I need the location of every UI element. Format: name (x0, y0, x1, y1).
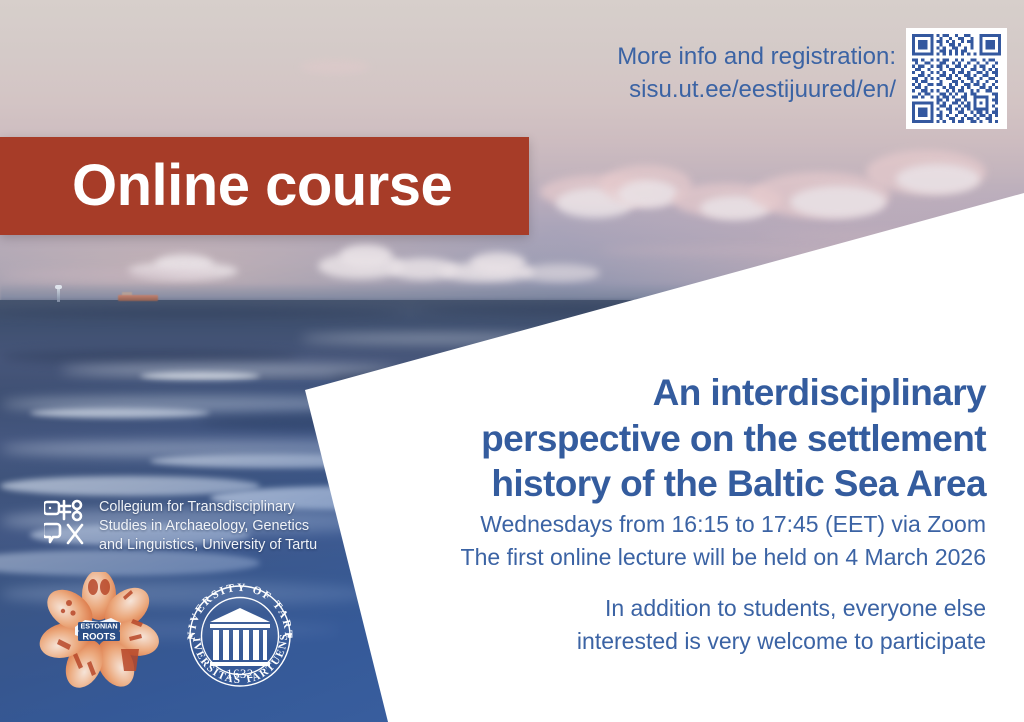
collegium-line-2: Studies in Archaeology, Genetics (99, 517, 317, 536)
wave-shape (0, 308, 400, 318)
wave-shape (0, 350, 300, 364)
cloud-shape (896, 164, 980, 194)
registration-url[interactable]: sisu.ut.ee/eestijuured/en/ (617, 73, 896, 106)
seal-year: 1632 (226, 667, 253, 681)
collegium-logo-icon (44, 497, 86, 551)
online-course-banner: Online course (0, 137, 529, 235)
cloud-shape (790, 186, 886, 218)
cloud-shape (340, 244, 392, 268)
cloud-shape (618, 180, 678, 208)
audience-line-2: interested is very welcome to participat… (366, 625, 986, 658)
banner-label: Online course (0, 157, 452, 215)
schedule-line-1: Wednesdays from 16:15 to 17:45 (EET) via… (366, 508, 986, 541)
headline-line-2: perspective on the settlement (366, 416, 986, 462)
registration-block: More info and registration: sisu.ut.ee/e… (617, 28, 1007, 129)
schedule-text: Wednesdays from 16:15 to 17:45 (EET) via… (366, 508, 986, 573)
cloud-shape (520, 264, 600, 282)
audience-text: In addition to students, everyone else i… (366, 592, 986, 657)
roots-word-bottom: ROOTS (82, 630, 115, 641)
schedule-line-2: The first online lecture will be held on… (366, 541, 986, 574)
collegium-name: Collegium for Transdisciplinary Studies … (99, 497, 317, 555)
roots-word-top: ESTONIAN (80, 622, 117, 631)
qr-code-icon[interactable] (906, 28, 1007, 129)
headline-line-3: history of the Baltic Sea Area (366, 461, 986, 507)
cloud-shape (470, 252, 526, 274)
collegium-lockup: Collegium for Transdisciplinary Studies … (44, 497, 317, 555)
poster-canvas: More info and registration: sisu.ut.ee/e… (0, 0, 1024, 722)
cloud-shape (300, 60, 370, 74)
audience-line-1: In addition to students, everyone else (366, 592, 986, 625)
cloud-streak (0, 270, 220, 280)
estonian-roots-logo: ESTONIAN ROOTS (30, 572, 168, 690)
ship-icon (118, 295, 158, 301)
page-title: An interdisciplinary perspective on the … (366, 370, 986, 507)
wave-shape (140, 372, 260, 380)
collegium-line-1: Collegium for Transdisciplinary (99, 498, 317, 517)
university-of-tartu-seal: UNIVERSITY OF TARTU UNIVERSITAS TARTUENS… (176, 574, 304, 692)
lighthouse-icon (57, 288, 60, 302)
registration-line-1: More info and registration: (617, 40, 896, 73)
registration-text: More info and registration: sisu.ut.ee/e… (617, 28, 896, 106)
collegium-line-3: and Linguistics, University of Tartu (99, 536, 317, 555)
headline-line-1: An interdisciplinary (366, 370, 986, 416)
